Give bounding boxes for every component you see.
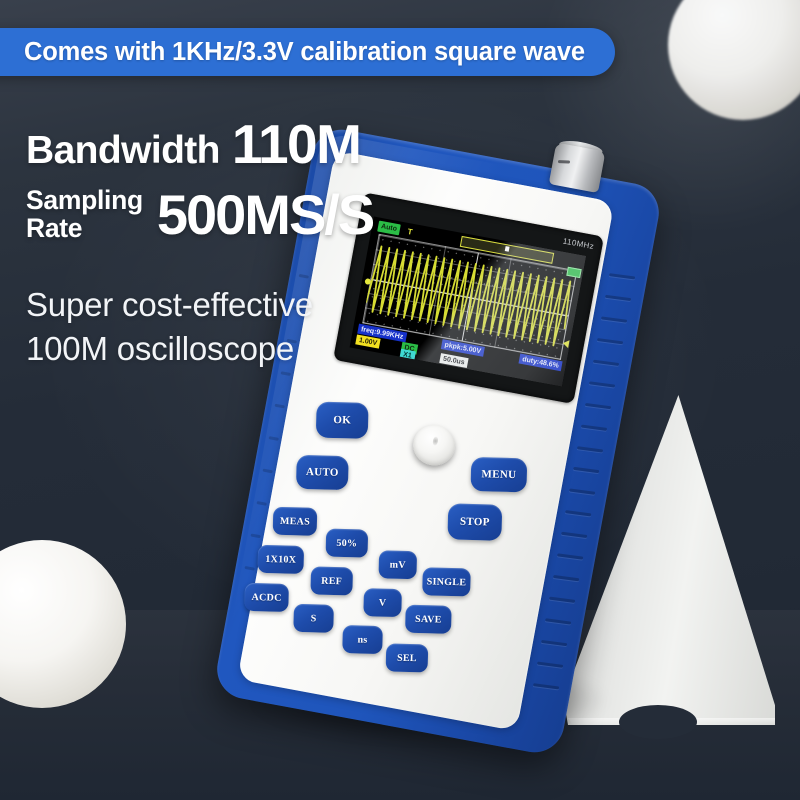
spec-sampling-label-line2: Rate bbox=[26, 215, 143, 242]
s-button[interactable]: S bbox=[293, 604, 334, 633]
percent50-button-label: 50% bbox=[336, 537, 357, 549]
spec-sampling-label: Sampling Rate bbox=[26, 187, 143, 241]
ref-button[interactable]: REF bbox=[310, 566, 353, 595]
menu-button-label: MENU bbox=[481, 468, 516, 481]
ns-button[interactable]: ns bbox=[342, 625, 383, 654]
v-button-label: V bbox=[379, 597, 387, 608]
menu-button[interactable]: MENU bbox=[470, 457, 527, 492]
device-stand-notch bbox=[619, 705, 697, 739]
single-button[interactable]: SINGLE bbox=[422, 567, 471, 596]
product-promo-image: Comes with 1KHz/3.3V calibration square … bbox=[0, 0, 800, 800]
bnc-connector[interactable] bbox=[549, 143, 606, 193]
percent50-button[interactable]: 50% bbox=[326, 529, 369, 558]
auto-button[interactable]: AUTO bbox=[296, 455, 349, 490]
stop-button[interactable]: STOP bbox=[447, 503, 502, 540]
marketing-copy: Bandwidth 110M Sampling Rate 500MS/S Sup… bbox=[26, 112, 373, 370]
ref-button-label: REF bbox=[321, 575, 342, 587]
sel-button-label: SEL bbox=[397, 652, 417, 664]
spec-bandwidth-value: 110M bbox=[232, 112, 361, 176]
tagline-line-1: Super cost-effective bbox=[26, 283, 373, 327]
mv-button[interactable]: mV bbox=[378, 550, 417, 579]
single-button-label: SINGLE bbox=[427, 576, 467, 588]
probe-1x10x-button-label: 1X10X bbox=[265, 553, 296, 565]
ok-button[interactable]: OK bbox=[316, 402, 369, 439]
ok-button-label: OK bbox=[333, 414, 351, 426]
spec-sampling-rate: Sampling Rate 500MS/S bbox=[26, 182, 373, 247]
status-probe-attenuation: X1 bbox=[399, 349, 415, 361]
meas-button-label: MEAS bbox=[280, 515, 310, 527]
acdc-button[interactable]: ACDC bbox=[244, 583, 289, 612]
display-bezel: 110MHz Auto T bbox=[333, 192, 604, 404]
auto-button-label: AUTO bbox=[306, 466, 339, 479]
spec-sampling-value: 500MS/S bbox=[157, 182, 373, 247]
bnc-connector-body bbox=[549, 143, 606, 193]
rotary-knob[interactable] bbox=[410, 422, 459, 469]
spec-bandwidth-label: Bandwidth bbox=[26, 129, 220, 173]
stop-button-label: STOP bbox=[460, 516, 490, 529]
trigger-marker-icon: T bbox=[407, 227, 413, 237]
sel-button[interactable]: SEL bbox=[386, 643, 429, 672]
spec-sampling-label-line1: Sampling bbox=[26, 187, 143, 214]
status-time-per-div: 50.0us bbox=[439, 353, 468, 368]
headline-banner-text: Comes with 1KHz/3.3V calibration square … bbox=[24, 38, 585, 67]
headline-banner: Comes with 1KHz/3.3V calibration square … bbox=[0, 28, 615, 76]
acdc-button-label: ACDC bbox=[251, 591, 281, 603]
rotary-knob-dimple bbox=[432, 436, 439, 446]
save-button[interactable]: SAVE bbox=[405, 605, 452, 634]
lcd-display: Auto T freq:9.99KHz pkpk:5.00V duty:48.6… bbox=[350, 217, 587, 387]
bandwidth-print-label: 110MHz bbox=[562, 236, 595, 251]
horizontal-position-indicator bbox=[505, 246, 510, 252]
probe-1x10x-button[interactable]: 1X10X bbox=[257, 545, 304, 574]
ns-button-label: ns bbox=[357, 634, 367, 645]
bnc-connector-slot bbox=[558, 160, 570, 164]
s-button-label: S bbox=[311, 613, 317, 624]
v-button[interactable]: V bbox=[363, 588, 402, 617]
tagline: Super cost-effective 100M oscilloscope bbox=[26, 283, 373, 370]
mv-button-label: mV bbox=[390, 559, 406, 570]
spec-bandwidth: Bandwidth 110M bbox=[26, 112, 373, 176]
save-button-label: SAVE bbox=[415, 613, 442, 625]
trigger-mode-badge: Auto bbox=[377, 220, 401, 235]
meas-button[interactable]: MEAS bbox=[273, 507, 318, 536]
tagline-line-2: 100M oscilloscope bbox=[26, 327, 373, 371]
trigger-level-marker-icon bbox=[562, 339, 569, 348]
